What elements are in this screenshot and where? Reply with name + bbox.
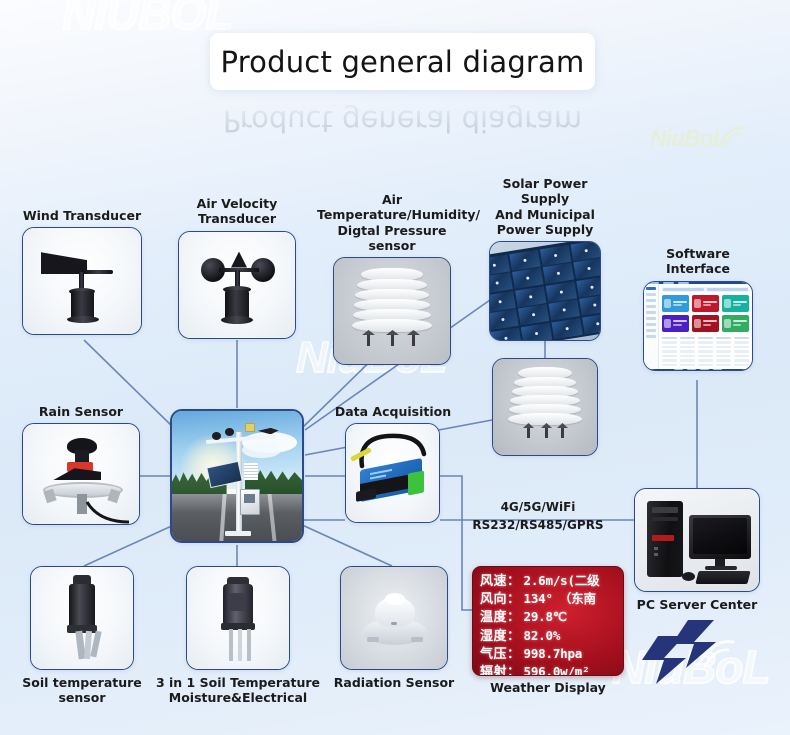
weather-station-illustration bbox=[172, 411, 302, 541]
air-temperature-sensor-label: Air Temperature/Humidity/ Digtal Pressur… bbox=[317, 192, 467, 253]
shield-sensor-card[interactable] bbox=[492, 358, 598, 456]
node-pc-server-center[interactable]: PC Server Center bbox=[634, 488, 760, 612]
air-velocity-transducer-card[interactable] bbox=[178, 231, 296, 339]
rain-gauge-illustration bbox=[23, 424, 139, 524]
node-solar-power-supply[interactable]: Solar Power Supply And Municipal Power S… bbox=[489, 176, 601, 341]
metric-card-6[interactable] bbox=[722, 315, 749, 332]
wind-transducer-card[interactable] bbox=[22, 227, 142, 335]
dashboard-filter-bar[interactable] bbox=[662, 287, 749, 292]
dashboard-table bbox=[662, 335, 749, 367]
soil-temperature-sensor-label: Soil temperature sensor bbox=[7, 675, 157, 706]
node-soil-temperature-sensor[interactable]: Soil temperature sensor bbox=[30, 566, 134, 706]
transmission-line-2: RS232/RS485/GPRS bbox=[470, 518, 606, 533]
node-air-velocity-transducer[interactable]: Air Velocity Transducer bbox=[178, 196, 296, 339]
anemometer-illustration bbox=[179, 232, 295, 338]
solar-power-supply-label: Solar Power Supply And Municipal Power S… bbox=[480, 176, 610, 237]
dashboard-metric-cards bbox=[662, 295, 749, 332]
rain-sensor-label: Rain Sensor bbox=[22, 404, 140, 419]
node-wind-transducer[interactable]: Wind Transducer bbox=[22, 208, 142, 335]
product-diagram-page: NIUBOL NiuBoL NiuBoL NiuBoL Product gene… bbox=[0, 0, 790, 735]
metric-card-4[interactable] bbox=[662, 315, 689, 332]
metric-card-1[interactable] bbox=[662, 295, 689, 312]
rain-sensor-card[interactable] bbox=[22, 423, 140, 525]
wind-vane-illustration bbox=[23, 228, 141, 334]
software-interface-label: Software Interface bbox=[633, 246, 763, 277]
dashboard-sidebar[interactable] bbox=[644, 284, 659, 369]
table-row bbox=[662, 355, 749, 358]
dashboard-footer bbox=[644, 369, 752, 371]
node-software-interface[interactable]: Software Interface bbox=[643, 246, 753, 371]
table-header-row bbox=[662, 337, 749, 340]
table-row bbox=[662, 350, 749, 353]
soil-3in1-probe-illustration bbox=[187, 567, 289, 669]
weather-row-pressure: 气压： 998.7hpa bbox=[480, 645, 623, 663]
air-velocity-transducer-label: Air Velocity Transducer bbox=[178, 196, 296, 227]
solar-panel-illustration bbox=[489, 241, 601, 341]
desktop-computer-illustration bbox=[635, 489, 759, 591]
radiation-sensor-card[interactable] bbox=[340, 566, 448, 670]
table-row bbox=[662, 359, 749, 362]
transmission-line-1: 4G/5G/WiFi bbox=[470, 500, 606, 515]
node-data-acquisition[interactable]: Data Acquisition bbox=[345, 404, 440, 523]
wind-transducer-label: Wind Transducer bbox=[22, 208, 142, 223]
node-rain-sensor[interactable]: Rain Sensor bbox=[22, 404, 140, 525]
pc-server-center-label: PC Server Center bbox=[634, 597, 760, 612]
weather-display-panel[interactable]: 风速： 2.6m/s(二级 风向： 134° （东南 温度： 29.8℃ 湿度：… bbox=[472, 566, 624, 676]
data-acquisition-label: Data Acquisition bbox=[333, 404, 453, 419]
metric-card-3[interactable] bbox=[722, 295, 749, 312]
soil-probe-illustration bbox=[31, 567, 133, 669]
soil-temperature-sensor-card[interactable] bbox=[30, 566, 134, 670]
software-dashboard[interactable] bbox=[644, 282, 752, 370]
data-acquisition-card[interactable] bbox=[345, 423, 440, 523]
table-row bbox=[662, 364, 749, 367]
node-soil-3in1-sensor[interactable]: 3 in 1 Soil Temperature Moisture&Electri… bbox=[186, 566, 290, 706]
dtu-module-illustration bbox=[346, 424, 439, 522]
soil-3in1-sensor-card[interactable] bbox=[186, 566, 290, 670]
hub-node[interactable] bbox=[170, 409, 304, 543]
weather-display-label: Weather Display bbox=[472, 680, 624, 695]
transmission-protocol-labels: 4G/5G/WiFi RS232/RS485/GPRS bbox=[470, 500, 606, 532]
software-interface-card[interactable] bbox=[643, 281, 753, 371]
weather-row-winddirection: 风向： 134° （东南 bbox=[480, 590, 623, 608]
radiation-shield-illustration bbox=[334, 258, 450, 364]
radiation-shield-small-illustration bbox=[493, 359, 597, 455]
pyranometer-illustration bbox=[341, 567, 447, 669]
weather-station-hub-card[interactable] bbox=[170, 409, 304, 543]
radiation-sensor-label: Radiation Sensor bbox=[324, 675, 464, 690]
node-shield-sensor[interactable] bbox=[492, 358, 598, 456]
data-flow-chevrons-icon bbox=[630, 618, 740, 684]
soil-3in1-sensor-label: 3 in 1 Soil Temperature Moisture&Electri… bbox=[152, 675, 324, 706]
solar-power-supply-card[interactable] bbox=[489, 241, 601, 341]
node-radiation-sensor[interactable]: Radiation Sensor bbox=[340, 566, 448, 690]
pc-server-center-card[interactable] bbox=[634, 488, 760, 592]
node-air-temperature-sensor[interactable]: Air Temperature/Humidity/ Digtal Pressur… bbox=[333, 192, 451, 365]
air-temperature-sensor-card[interactable] bbox=[333, 257, 451, 365]
table-row bbox=[662, 346, 749, 349]
weather-row-radiation: 辐射： 596.0w/m² bbox=[480, 663, 623, 676]
metric-card-2[interactable] bbox=[692, 295, 719, 312]
weather-row-temperature: 温度： 29.8℃ bbox=[480, 608, 623, 626]
weather-row-humidity: 湿度： 82.0% bbox=[480, 627, 623, 645]
metric-card-5[interactable] bbox=[692, 315, 719, 332]
weather-row-windspeed: 风速： 2.6m/s(二级 bbox=[480, 572, 623, 590]
table-row bbox=[662, 341, 749, 344]
